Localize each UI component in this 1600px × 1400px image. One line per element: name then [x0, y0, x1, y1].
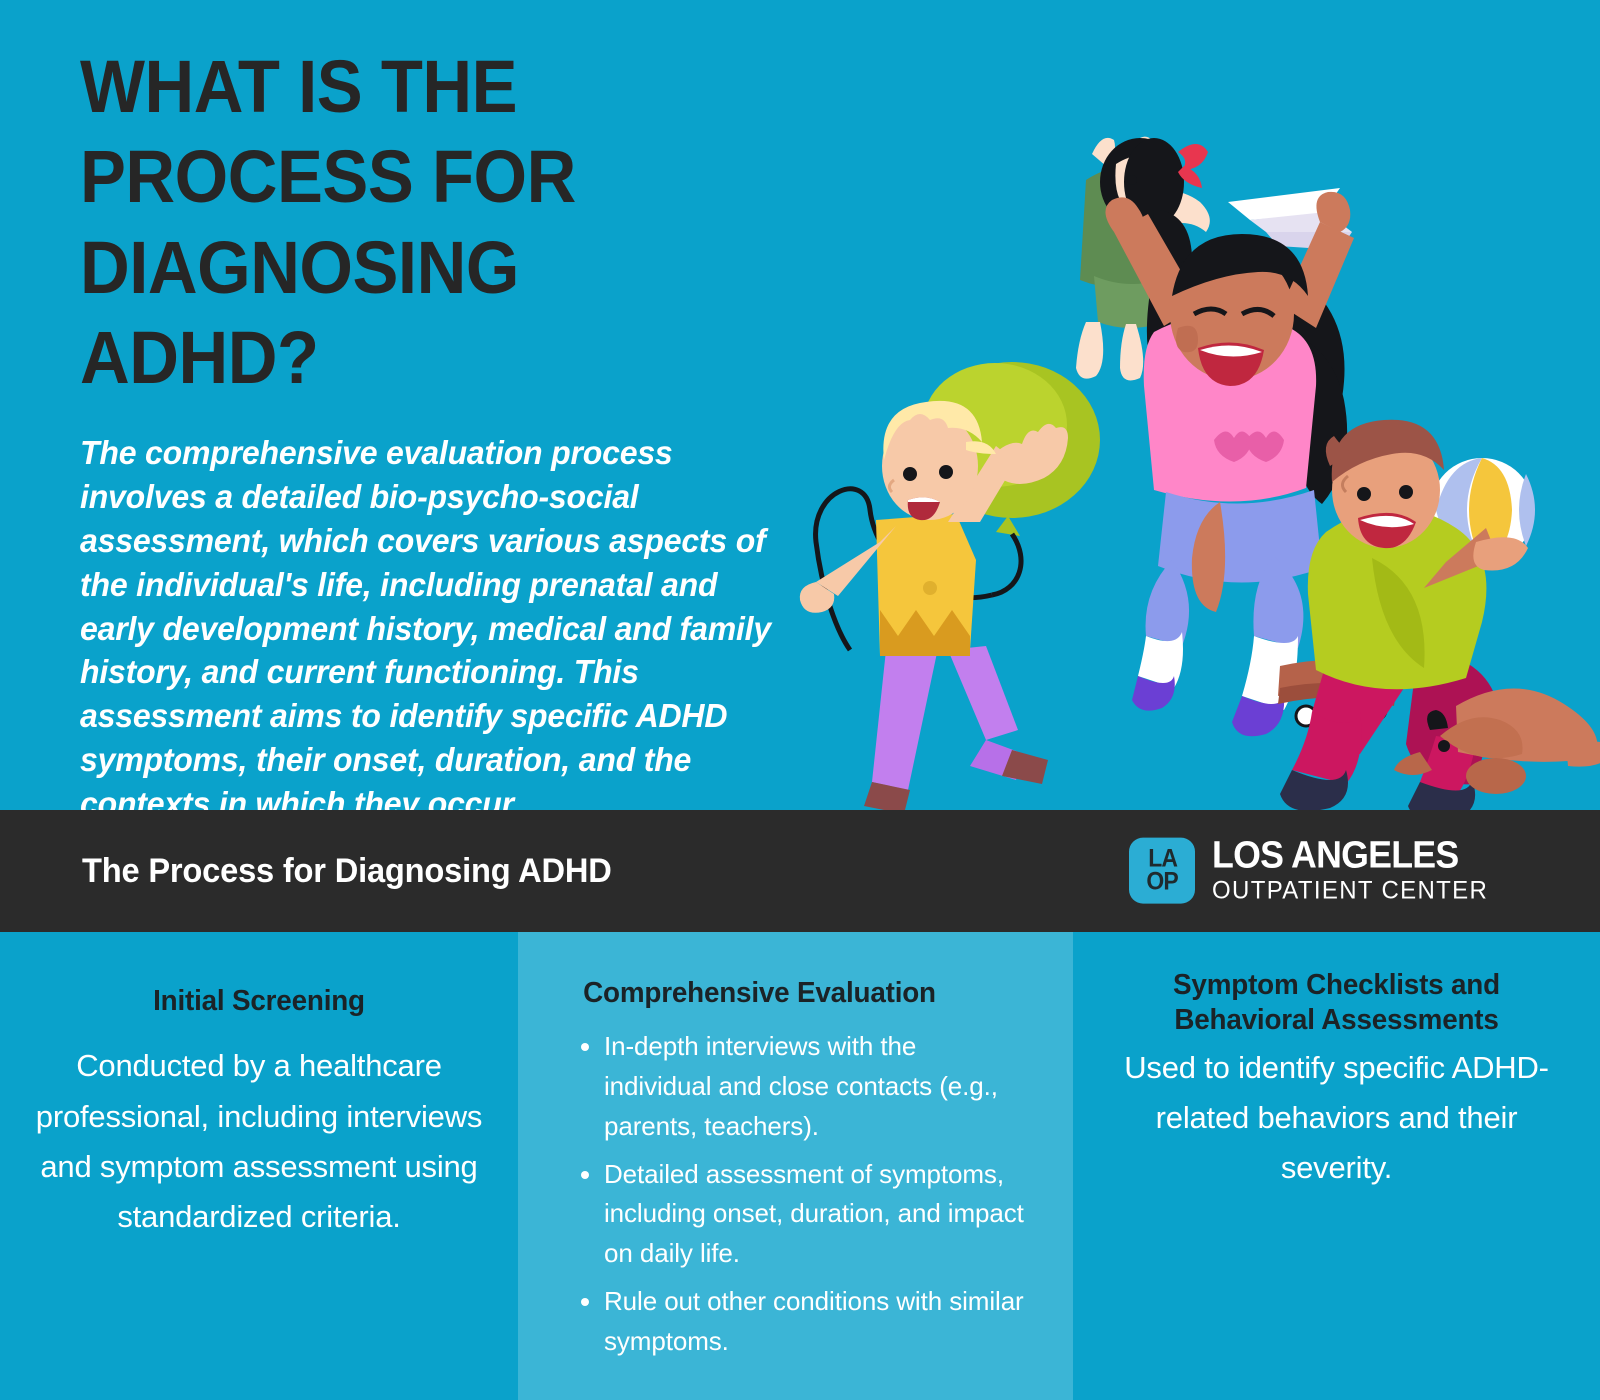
column-heading: Comprehensive Evaluation — [583, 976, 1020, 1011]
logo-mark-line-2: OP — [1147, 871, 1178, 894]
list-item: Detailed assessment of symptoms, includi… — [574, 1155, 1029, 1274]
hero-section: WHAT IS THE PROCESS FOR DIAGNOSING ADHD?… — [0, 0, 1600, 810]
column-initial-screening: Initial Screening Conducted by a healthc… — [0, 932, 518, 1400]
column-symptom-checklists: Symptom Checklists and Behavioral Assess… — [1073, 932, 1600, 1400]
figure-running-boy — [800, 401, 1068, 810]
brand-name-primary: LOS ANGELES — [1212, 837, 1482, 875]
evaluation-bullet-list: In-depth interviews with the individual … — [574, 1027, 1029, 1361]
column-heading: Symptom Checklists and Behavioral Assess… — [1110, 968, 1562, 1039]
banner-title: The Process for Diagnosing ADHD — [82, 852, 612, 891]
laop-logo: LA OP LOS ANGELES OUTPATIENT CENTER — [1129, 837, 1500, 906]
hero-text-block: WHAT IS THE PROCESS FOR DIAGNOSING ADHD?… — [80, 42, 820, 826]
laop-logo-wordmark: LOS ANGELES OUTPATIENT CENTER — [1212, 837, 1500, 906]
list-item: In-depth interviews with the individual … — [574, 1027, 1029, 1146]
brand-name-secondary: OUTPATIENT CENTER — [1212, 877, 1488, 906]
children-playing-illustration — [780, 90, 1600, 810]
hero-paragraph: The comprehensive evaluation process inv… — [80, 431, 798, 826]
column-body: Conducted by a healthcare professional, … — [34, 1041, 484, 1242]
laop-logo-mark: LA OP — [1129, 838, 1195, 904]
process-banner: The Process for Diagnosing ADHD LA OP LO… — [0, 810, 1600, 932]
process-columns: Initial Screening Conducted by a healthc… — [0, 932, 1600, 1400]
page-title: WHAT IS THE PROCESS FOR DIAGNOSING ADHD? — [80, 42, 768, 403]
list-item: Rule out other conditions with similar s… — [574, 1282, 1029, 1362]
column-body: Used to identify specific ADHD-related b… — [1101, 1043, 1572, 1194]
column-comprehensive-evaluation: Comprehensive Evaluation In-depth interv… — [518, 932, 1073, 1400]
column-heading: Initial Screening — [43, 984, 475, 1019]
